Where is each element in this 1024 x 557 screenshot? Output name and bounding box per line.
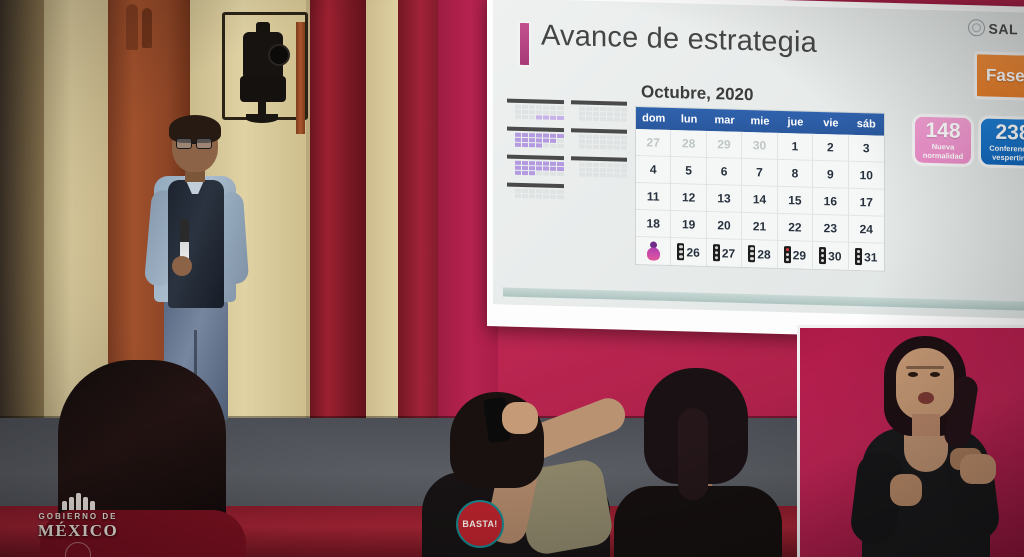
audience-braid: [678, 408, 708, 500]
badge-nueva-normalidad-label: Nueva normalidad: [915, 142, 971, 162]
mini-calendar-header: [571, 100, 628, 106]
traffic-light-icon-red: [784, 246, 791, 263]
mini-calendar-header: [507, 183, 564, 189]
wooden-pole: [296, 22, 305, 134]
watermark-line-2: MÉXICO: [18, 521, 138, 541]
calendar-day: 7: [742, 159, 777, 187]
gobierno-watermark: GOBIERNO DE MÉXICO: [18, 492, 138, 554]
mini-calendar-grid: [571, 134, 628, 150]
watermark-seal-icon: [65, 542, 91, 557]
salud-logo: SAL: [968, 19, 1019, 37]
interpreter-brow: [906, 366, 944, 369]
calendar-day: 27: [707, 239, 742, 267]
glasses-icon: [176, 138, 192, 149]
mini-calendar: [571, 128, 628, 150]
slide-title: Avance de estrategia: [541, 19, 817, 59]
badge-conferencias-number: 238: [981, 121, 1024, 145]
basta-patch-label: BASTA!: [462, 519, 497, 529]
traffic-light-icon: [713, 244, 720, 261]
calendar-day: 4: [636, 156, 671, 184]
calendar-day: 22: [778, 214, 813, 242]
calendar-day: 2: [813, 134, 848, 162]
mini-calendar-grid: [507, 189, 564, 200]
calendar-day-label: 26: [686, 245, 699, 259]
audience-photographer: BASTA!: [430, 392, 630, 557]
calendar-day: 13: [707, 185, 742, 213]
slide-footer-bar: [503, 287, 1024, 310]
calendar-day: 18: [636, 210, 671, 238]
wall-left: [0, 0, 46, 420]
figure-icon: [646, 241, 661, 260]
weekday-header: mie: [742, 110, 777, 133]
mini-calendar-column-left: [507, 99, 564, 286]
calendar-day: 6: [707, 158, 742, 186]
mini-calendar-column-right: [571, 100, 628, 287]
mini-calendar-grid: [507, 133, 564, 149]
mini-calendar: [507, 127, 564, 149]
interpreter-mouth: [918, 392, 934, 404]
calendar-day-label: 31: [864, 250, 877, 264]
traffic-light-icon: [855, 248, 862, 265]
badge-fase-label: Fase: [986, 66, 1024, 87]
photographer-hand: [502, 402, 538, 434]
traffic-light-icon: [748, 245, 755, 262]
calendar-day: 17: [849, 189, 884, 217]
calendar-day: 1: [778, 133, 813, 161]
calendar-day: 12: [671, 184, 706, 212]
weekday-header: dom: [636, 107, 671, 130]
eagle-emblem-icon: [18, 492, 138, 510]
calendar-day: 31: [849, 243, 884, 271]
speaker-vest: [168, 180, 224, 308]
weekday-header: lun: [671, 108, 706, 131]
calendar-day: 28: [742, 240, 777, 268]
status-badge-conferencias: 238 Conferencias vespertinas: [978, 115, 1024, 169]
wall-cream-left: [44, 0, 112, 420]
calendar-day: 30: [813, 242, 848, 270]
calendar-day: 23: [813, 215, 848, 243]
mini-calendars: [507, 99, 627, 287]
interpreter-neck: [912, 414, 940, 436]
interpreter-eye-right: [930, 372, 940, 377]
calendar-day: 16: [813, 188, 848, 216]
door-finial-left: [126, 4, 138, 50]
mini-calendar-grid: [571, 106, 628, 122]
badge-nueva-normalidad-number: 148: [915, 120, 971, 144]
glasses-icon: [196, 138, 212, 149]
mini-calendar-header: [571, 156, 628, 162]
mini-calendar-header: [507, 155, 564, 161]
salud-logo-text: SAL: [989, 20, 1019, 37]
mini-calendar-grid: [571, 162, 628, 178]
calendar-day: 30: [742, 132, 777, 160]
calendar-day: 11: [636, 183, 671, 211]
mini-calendar-grid: [507, 105, 564, 121]
mini-calendar: [507, 99, 564, 121]
projection-screen: SAL Avance de estrategia Octubre, 2020: [487, 0, 1024, 341]
calendar-day: 15: [778, 187, 813, 215]
calendar-day: 20: [707, 212, 742, 240]
watermark-line-1: GOBIERNO DE: [18, 512, 138, 521]
calendar-day: 19: [671, 211, 706, 239]
weekday-header: vie: [813, 112, 848, 135]
calendar-day: 27: [636, 129, 671, 157]
interpreter-eye-left: [908, 372, 918, 377]
title-accent-bar: [518, 21, 531, 67]
october-calendar: dom lun mar mie jue vie sáb 27 28 29 30 …: [635, 106, 885, 272]
calendar-day: [636, 237, 671, 265]
weekday-header: mar: [707, 109, 742, 132]
mini-calendar: [571, 100, 628, 122]
mini-calendar: [571, 156, 628, 178]
calendar-day: 9: [813, 161, 848, 189]
basta-patch: BASTA!: [456, 500, 504, 548]
camera-base-icon: [240, 76, 286, 102]
mini-calendar-header: [571, 128, 628, 134]
calendar-day: 10: [849, 162, 884, 190]
sign-language-panel: [797, 325, 1024, 557]
speaker-hand: [172, 256, 192, 276]
camera-lens-icon: [268, 44, 290, 66]
weekday-header: sáb: [849, 113, 884, 136]
slide-subtitle: Octubre, 2020: [641, 82, 753, 105]
interpreter-face: [896, 348, 954, 420]
calendar-day: 8: [778, 160, 813, 188]
mini-calendar: [507, 183, 564, 200]
traffic-light-icon: [677, 243, 684, 260]
calendar-day-label: 30: [828, 249, 841, 263]
calendar-day-label: 29: [793, 248, 806, 262]
mini-calendar-grid: [507, 161, 564, 177]
calendar-day-label: 28: [757, 247, 770, 261]
interpreter-hand-left: [890, 474, 922, 506]
curtain-red-left: [310, 0, 370, 440]
calendar-day: 29: [707, 131, 742, 159]
calendar-day: 29: [778, 241, 813, 269]
door-finial-right: [142, 8, 152, 48]
traffic-light-icon: [819, 247, 826, 264]
audience-woman-right: [622, 368, 772, 557]
calendar-day: 28: [671, 130, 706, 158]
mini-calendar-header: [507, 127, 564, 133]
presentation-slide: SAL Avance de estrategia Octubre, 2020: [493, 0, 1024, 319]
status-badge-nueva-normalidad: 148 Nueva normalidad: [912, 114, 974, 168]
weekday-header: jue: [778, 111, 813, 134]
glasses-bridge: [192, 142, 197, 144]
calendar-week-row: 26 27 28 29: [636, 237, 884, 271]
calendar-day: 24: [849, 216, 884, 244]
calendar-day: 3: [849, 135, 884, 163]
calendar-day: 26: [671, 238, 706, 266]
interpreter-hand-right: [960, 454, 996, 484]
calendar-day-label: 27: [722, 246, 735, 260]
status-badge-fase: Fase: [974, 51, 1024, 101]
calendar-day: 21: [742, 213, 777, 241]
calendar-day: 14: [742, 186, 777, 214]
broadcast-frame: SAL Avance de estrategia Octubre, 2020: [0, 0, 1024, 557]
calendar-day: 5: [671, 157, 706, 185]
badge-conferencias-label: Conferencias vespertinas: [981, 143, 1024, 163]
mini-calendar-header: [507, 99, 564, 105]
salud-seal-icon: [968, 19, 985, 36]
mini-calendar: [507, 155, 564, 177]
